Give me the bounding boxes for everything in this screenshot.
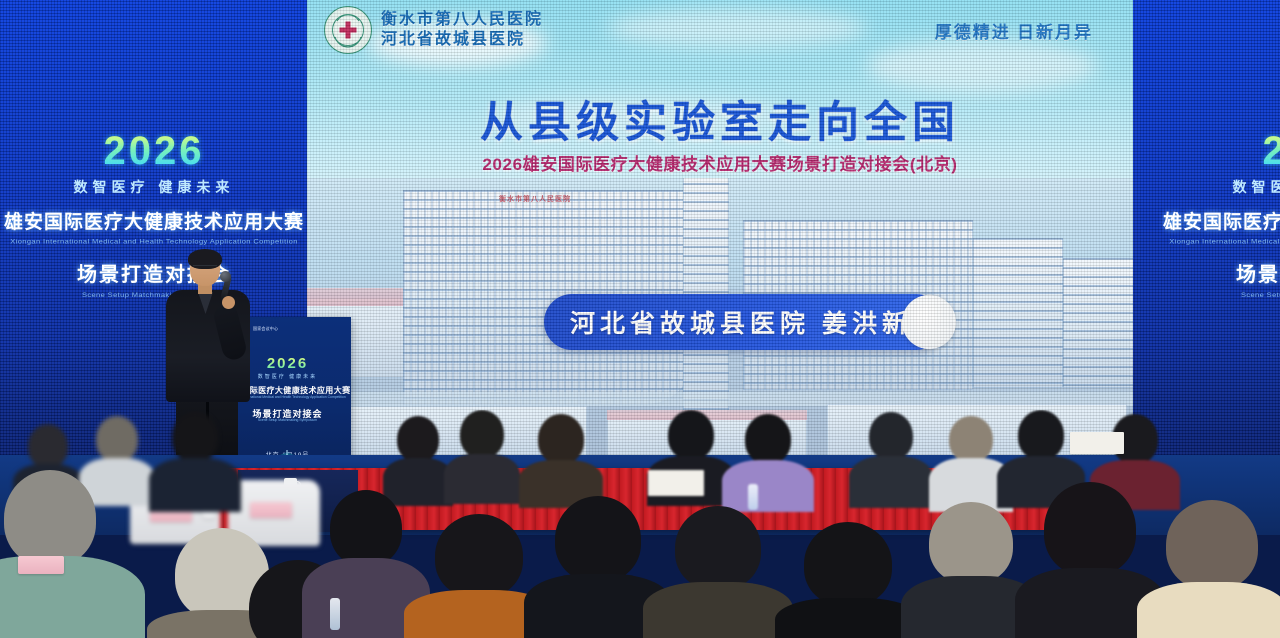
- podium-org-logo-text: 国家会议中心: [253, 326, 278, 331]
- hospital-name-line2: 河北省故城县医院: [381, 30, 543, 50]
- presentation-slide: 衡水市第八人民医院 衡水市第八人民医院: [307, 0, 1133, 455]
- chair-name-card: [18, 556, 64, 574]
- hospital-name-line1: 衡水市第八人民医院: [381, 10, 543, 30]
- hospital-seal-icon: [324, 6, 372, 54]
- speaker-avatar: [902, 295, 956, 349]
- hospital-motto: 厚德精进 日新月异: [935, 18, 1093, 43]
- speaker-name-banner: 河北省故城县医院 姜洪新: [544, 294, 944, 350]
- left-panel-slogan: 数智医疗 健康未来: [4, 177, 304, 197]
- water-bottle: [330, 598, 340, 630]
- right-panel-slogan: 数智医疗 健康未来: [1163, 177, 1280, 197]
- left-panel-year: 2026: [4, 132, 304, 170]
- cloud-shape: [607, 8, 867, 48]
- right-panel-subtitle-en: Scene Setup Matchmaking Symposium: [1163, 290, 1280, 298]
- audience-person: [736, 414, 800, 510]
- right-panel-title-en: Xiongan International Medical and Health…: [1163, 237, 1280, 245]
- audience-person: [860, 412, 922, 506]
- audience-person: [0, 470, 114, 638]
- audience-person: [530, 414, 592, 506]
- left-panel-subtitle: 场景打造对接会: [4, 258, 304, 287]
- handout-paper: [1070, 432, 1124, 454]
- audience-person: [916, 502, 1026, 638]
- audience-person: [390, 416, 446, 504]
- right-panel-year: 2026: [1163, 132, 1280, 170]
- audience-person: [88, 416, 146, 504]
- building-sign-text: 衡水市第八人民医院: [499, 194, 571, 204]
- left-panel-subtitle-en: Scene Setup Matchmaking Symposium: [4, 290, 304, 298]
- right-panel-title: 雄安国际医疗大健康技术应用大赛: [1163, 207, 1280, 234]
- slide-subtitle: 2026雄安国际医疗大健康技术应用大赛场景打造对接会(北京): [307, 150, 1133, 175]
- audience-person: [1030, 482, 1150, 638]
- audience-person: [660, 506, 776, 638]
- eyeglasses-icon: [193, 265, 217, 272]
- led-panel-right: 2026 数智医疗 健康未来 雄安国际医疗大健康技术应用大赛 Xiongan I…: [1133, 0, 1280, 470]
- right-panel-subtitle: 场景打造对接会: [1163, 258, 1280, 287]
- audience-person: [940, 416, 1002, 508]
- slide-header: 衡水市第八人民医院 河北省故城县医院: [324, 6, 543, 54]
- cloud-shape: [867, 40, 1097, 92]
- chair-name-card: [250, 502, 292, 518]
- water-bottle: [748, 484, 758, 510]
- audience-person: [540, 496, 656, 638]
- left-panel-title-en: Xiongan International Medical and Health…: [4, 237, 304, 245]
- audience-person: [164, 412, 226, 508]
- audience-area: [0, 410, 1280, 638]
- speaker-name-text: 河北省故城县医院 姜洪新: [544, 304, 912, 340]
- audience-person: [452, 410, 512, 502]
- audience-person: [1152, 500, 1272, 638]
- left-panel-title: 雄安国际医疗大健康技术应用大赛: [4, 207, 304, 234]
- conference-photo-scene: 2026 数智医疗 健康未来 雄安国际医疗大健康技术应用大赛 Xiongan I…: [0, 0, 1280, 638]
- handout-paper: [648, 470, 704, 496]
- seal-wreath-icon: [325, 7, 371, 53]
- slide-main-title: 从县级实验室走向全国: [307, 88, 1133, 150]
- audience-person: [420, 514, 538, 638]
- audience-person: [790, 522, 906, 638]
